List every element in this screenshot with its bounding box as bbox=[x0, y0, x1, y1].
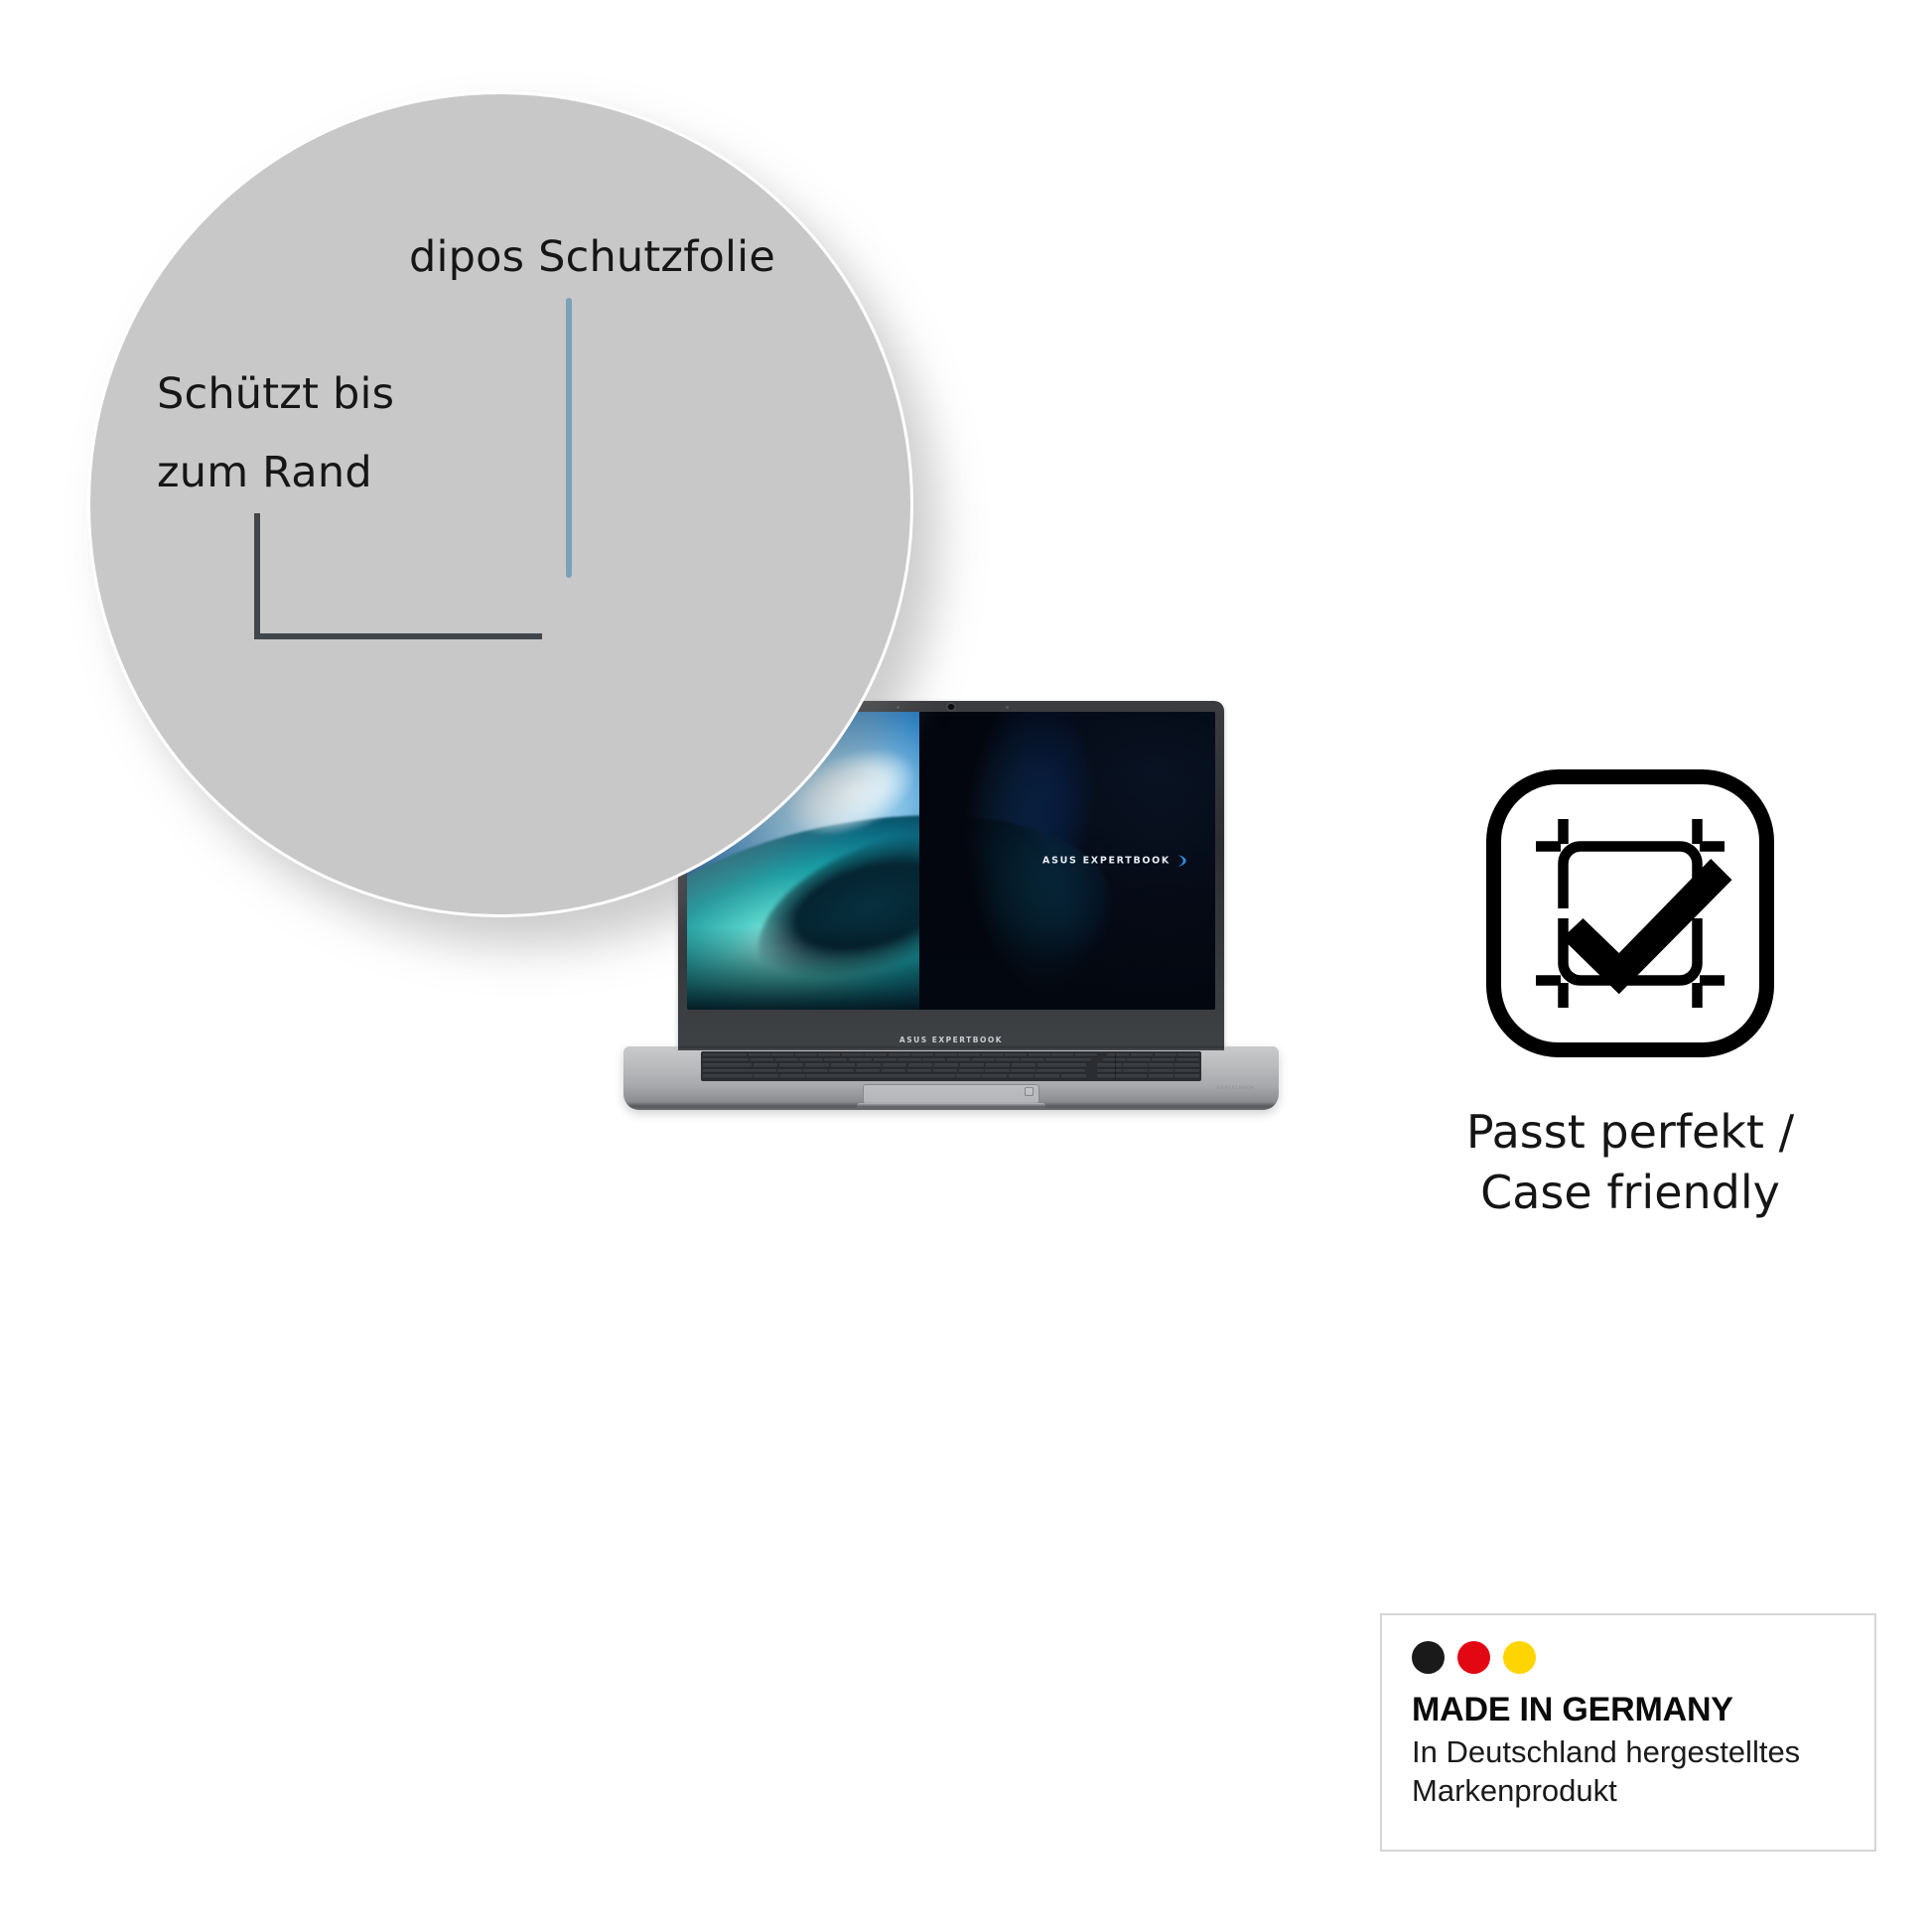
callout-edge-bracket bbox=[254, 513, 542, 639]
callout-subtitle-line-1: Schützt bis bbox=[157, 367, 394, 423]
laptop-hinge bbox=[678, 1046, 1224, 1050]
sensor-dot-icon bbox=[1006, 706, 1009, 709]
webcam-icon bbox=[948, 704, 955, 710]
keyboard-row bbox=[703, 1058, 1199, 1062]
case-friendly-feature: Passt perfekt / Case friendly bbox=[1382, 764, 1878, 1222]
product-image-canvas: ASUS EXPERTBOOK ASUS EXPERTBOOK bbox=[0, 0, 1932, 1932]
deck-brand-text: EXPERTBOOK bbox=[1217, 1086, 1255, 1091]
callout-circle bbox=[87, 91, 913, 917]
case-friendly-check-icon bbox=[1481, 764, 1779, 1062]
callout-subtitle: Schützt bis zum Rand bbox=[157, 367, 394, 501]
laptop-trackpad bbox=[863, 1084, 1039, 1104]
laptop-front-notch bbox=[857, 1103, 1045, 1108]
made-in-germany-subtitle-line-1: In Deutschland hergestelltes bbox=[1412, 1733, 1845, 1771]
case-friendly-caption: Passt perfekt / Case friendly bbox=[1382, 1102, 1878, 1222]
keyboard-row bbox=[703, 1069, 1199, 1073]
callout-pointer-line bbox=[566, 298, 572, 578]
laptop-base: EXPERTBOOK bbox=[623, 1046, 1279, 1110]
case-friendly-caption-line-1: Passt perfekt / bbox=[1382, 1102, 1878, 1163]
callout-subtitle-line-2: zum Rand bbox=[157, 446, 394, 501]
sensor-dot-icon bbox=[897, 706, 899, 709]
made-in-germany-title: MADE IN GERMANY bbox=[1412, 1690, 1845, 1729]
flag-dot-gold bbox=[1503, 1641, 1536, 1674]
made-in-germany-subtitle-line-2: Markenprodukt bbox=[1412, 1772, 1845, 1810]
screen-brand-logo: ASUS EXPERTBOOK bbox=[1042, 855, 1187, 868]
flag-dot-red bbox=[1457, 1641, 1490, 1674]
screen-brand-logo-text: ASUS EXPERTBOOK bbox=[1042, 856, 1171, 867]
flag-dot-black bbox=[1412, 1641, 1445, 1674]
german-flag-dots bbox=[1412, 1641, 1845, 1674]
made-in-germany-subtitle: In Deutschland hergestelltes Markenprodu… bbox=[1412, 1733, 1845, 1810]
keyboard-row bbox=[703, 1074, 1199, 1078]
keyboard-row bbox=[703, 1063, 1199, 1067]
bezel-brand-text: ASUS EXPERTBOOK bbox=[899, 1035, 1003, 1044]
numpad-divider bbox=[1115, 1053, 1116, 1079]
wallpaper-bottom-fade bbox=[687, 926, 1215, 1010]
made-in-germany-badge: MADE IN GERMANY In Deutschland hergestel… bbox=[1380, 1613, 1876, 1852]
callout-title: dipos Schutzfolie bbox=[409, 230, 775, 286]
keyboard-row bbox=[703, 1053, 1199, 1057]
crescent-logo-icon bbox=[1176, 855, 1187, 868]
laptop-keyboard bbox=[701, 1051, 1201, 1081]
fingerprint-sensor-icon bbox=[1025, 1087, 1034, 1096]
case-friendly-caption-line-2: Case friendly bbox=[1382, 1163, 1878, 1223]
